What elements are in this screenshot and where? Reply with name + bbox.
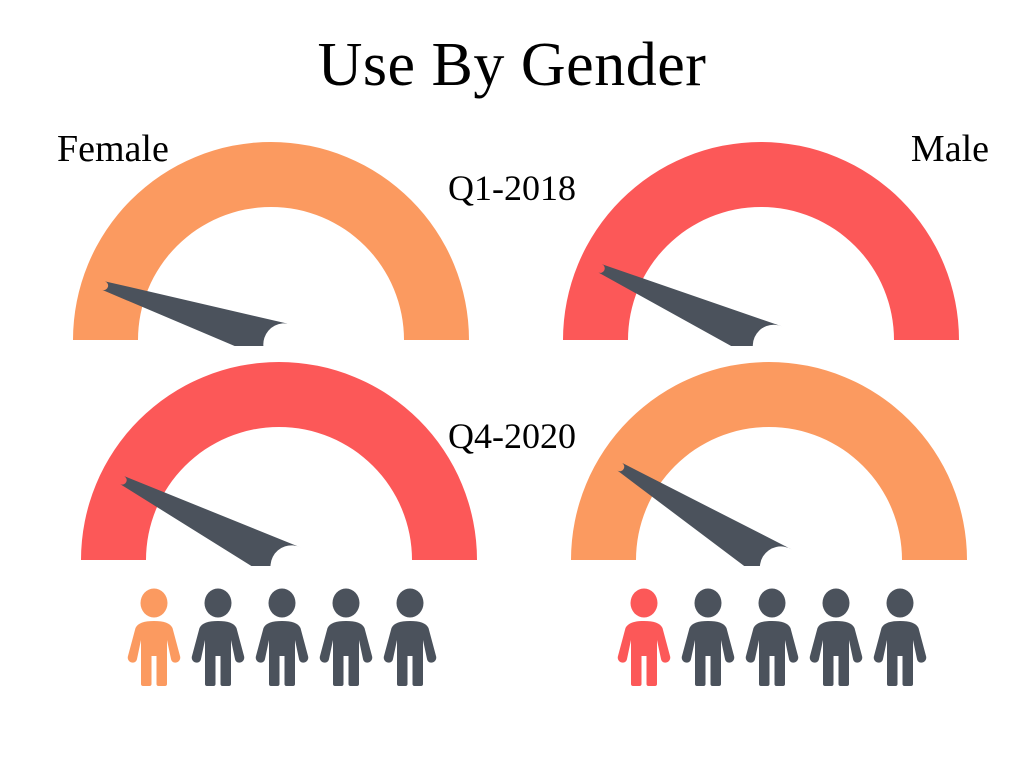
gauge-arc <box>571 362 967 560</box>
person-head <box>759 589 786 618</box>
gauge-female-q1-2018 <box>67 136 475 346</box>
person-icon <box>872 588 928 686</box>
person-icon-highlighted <box>616 588 672 686</box>
person-icon <box>382 588 438 686</box>
person-head <box>205 589 232 618</box>
person-body <box>192 621 245 686</box>
gauge-arc <box>563 142 959 340</box>
person-body <box>128 621 181 686</box>
gauge-female-q4-2020 <box>75 356 483 566</box>
person-head <box>141 589 168 618</box>
person-icon <box>680 588 736 686</box>
person-body <box>618 621 671 686</box>
male-pictogram <box>616 588 928 686</box>
person-icon <box>318 588 374 686</box>
person-body <box>256 621 309 686</box>
person-head <box>333 589 360 618</box>
person-body <box>874 621 927 686</box>
person-body <box>682 621 735 686</box>
person-icon <box>190 588 246 686</box>
person-body <box>384 621 437 686</box>
infographic-canvas: Use By Gender Female Male Q1-2018 Q4-202… <box>0 0 1024 768</box>
person-head <box>887 589 914 618</box>
gauge-male-q4-2020 <box>565 356 973 566</box>
person-head <box>631 589 658 618</box>
person-head <box>269 589 296 618</box>
person-body <box>746 621 799 686</box>
person-icon-highlighted <box>126 588 182 686</box>
person-head <box>823 589 850 618</box>
person-icon <box>808 588 864 686</box>
person-head <box>695 589 722 618</box>
gauge-arc <box>81 362 477 560</box>
person-head <box>397 589 424 618</box>
page-title: Use By Gender <box>0 34 1024 96</box>
person-icon <box>744 588 800 686</box>
gauge-male-q1-2018 <box>557 136 965 346</box>
person-body <box>320 621 373 686</box>
person-body <box>810 621 863 686</box>
person-icon <box>254 588 310 686</box>
gauge-arc <box>73 142 469 340</box>
female-pictogram <box>126 588 438 686</box>
